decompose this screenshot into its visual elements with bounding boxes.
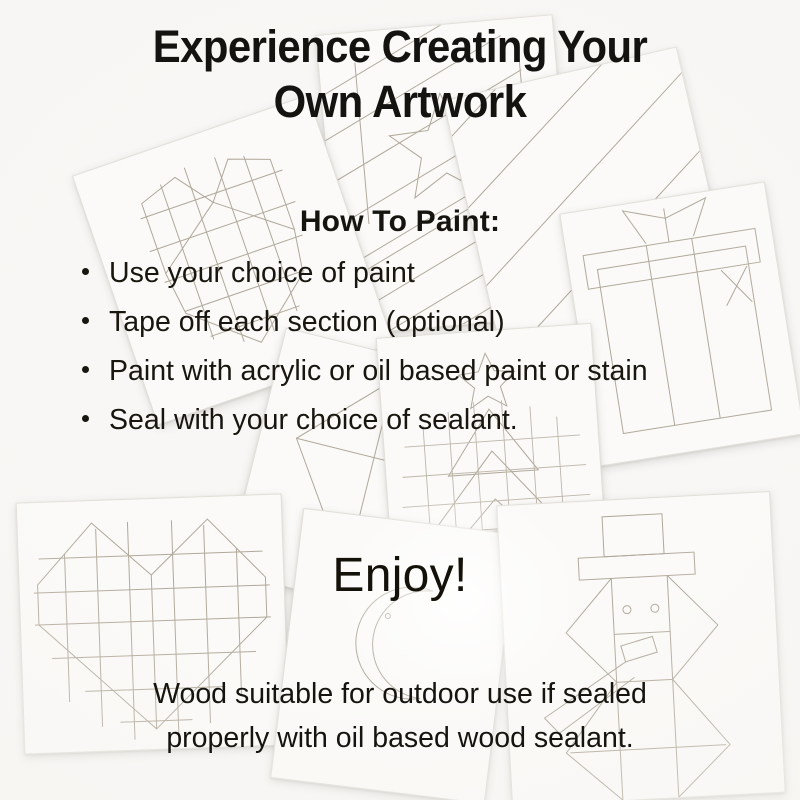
bullet-dot-icon <box>82 317 89 324</box>
headline-line-1: Experience Creating Your <box>28 20 772 75</box>
list-item-label: Tape off each section (optional) <box>109 306 505 338</box>
text-overlay: Experience Creating Your Own Artwork How… <box>0 0 800 800</box>
list-item: Use your choice of paint <box>78 250 760 296</box>
list-item-label: Use your choice of paint <box>109 257 415 289</box>
bullet-dot-icon <box>82 268 89 275</box>
closing-exclamation: Enjoy! <box>0 548 800 603</box>
list-item: Paint with acrylic or oil based paint or… <box>78 348 760 394</box>
infographic-canvas: Experience Creating Your Own Artwork How… <box>0 0 800 800</box>
bullet-dot-icon <box>82 415 89 422</box>
list-item: Tape off each section (optional) <box>78 299 760 345</box>
instructions-heading: How To Paint: <box>0 205 800 239</box>
headline: Experience Creating Your Own Artwork <box>28 20 772 130</box>
footnote-line-2: properly with oil based wood sealant. <box>40 716 760 760</box>
list-item-label: Paint with acrylic or oil based paint or… <box>109 355 648 387</box>
footnote: Wood suitable for outdoor use if sealed … <box>40 672 760 760</box>
list-item-label: Seal with your choice of sealant. <box>109 404 518 436</box>
bullet-dot-icon <box>82 366 89 373</box>
list-item: Seal with your choice of sealant. <box>78 397 760 443</box>
footnote-line-1: Wood suitable for outdoor use if sealed <box>40 672 760 716</box>
headline-line-2: Own Artwork <box>28 75 772 130</box>
instructions-list: Use your choice of paint Tape off each s… <box>78 250 760 447</box>
